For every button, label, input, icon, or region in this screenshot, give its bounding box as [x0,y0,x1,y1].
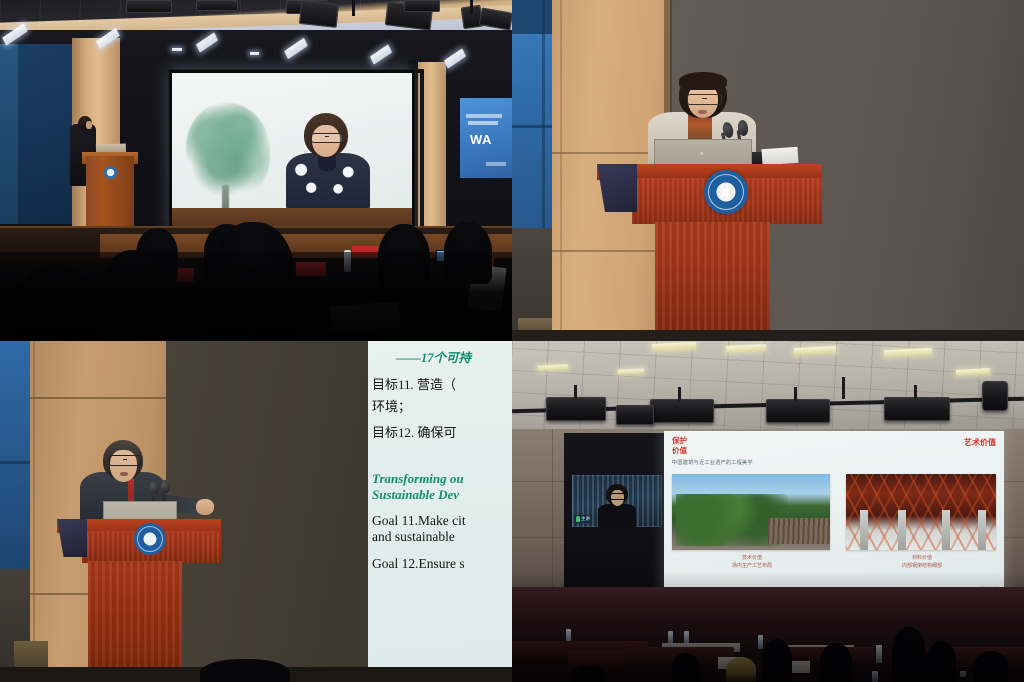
speaker-mouth [120,472,128,476]
slide-line-en-2: and sustainable [372,529,512,545]
wall-seam [560,0,562,341]
column-graphic [860,510,868,550]
column-graphic [978,510,986,550]
slide-photo-right [846,474,996,550]
wall-seam [28,397,170,399]
glasses-icon [610,493,627,500]
microphone-icon [576,516,580,522]
slide-title-right: 艺术价值 [964,437,996,448]
speaker-mouth [698,110,707,114]
stage-light-fixture [766,399,830,423]
participant-label: 主讲 [581,516,590,522]
slide-photo-right-caption: 材料价值 内部钢架结构细部 [864,555,980,570]
slide-title-left: 保护 价值 [672,436,687,456]
wall-seam [512,125,552,128]
caption-line-2: 场内生产工艺布局 [694,563,810,571]
slide-subtitle: 中国建筑与近工业遗产的工程美学 [672,459,753,466]
wall-seam [548,250,670,252]
stage-light-fixture [404,0,440,12]
remote-participant-body [598,504,636,527]
rig-drop-pipe [470,0,473,14]
university-seal [104,166,117,179]
seal-glyph: ▦ [722,188,730,197]
slide-photo-left-caption: 技术价值 场内生产工艺布局 [694,555,810,570]
slide-line-en-italic-2: Sustainable Dev [372,487,512,503]
panel-hall-projection-audience: 保护 价值 艺术价值 中国建筑与近工业遗产的工程美学 技术价值 场内生产工艺布局 [512,341,1024,682]
secondary-screen-title: WA [470,132,492,147]
wall-seam [552,429,553,589]
glasses-icon [109,455,141,466]
structure-graphic [768,518,830,544]
glasses-icon [311,133,343,143]
stage-light-fixture [650,399,714,423]
slide-line-en-1: Goal 11.Make cit [372,513,512,529]
host-face [86,121,92,129]
remote-speaker-collar [318,155,336,171]
glasses-icon [687,94,722,105]
fixture-yoke [914,385,917,399]
participant-name-tag: 主讲 [574,515,592,523]
stage-light-fixture [196,0,238,11]
wall-panel-blue-edge [0,44,18,224]
column-graphic [898,510,906,550]
wall-seam [33,341,35,682]
audience-silhouette [200,659,290,682]
secondary-screen: WA [460,98,512,178]
fixture-yoke [574,385,577,399]
wall-panel-blue [512,0,552,230]
wall-seam [542,0,545,230]
stage-light-fixture [982,381,1008,411]
panel-podium-speaker-with-slide: ——17个可持 目标11. 营造（ 环境； 目标12. 确保可 Transfor… [0,341,512,682]
paper-note [761,147,798,165]
video-conference-window[interactable]: 主讲 [572,475,662,527]
screen-text-line [468,121,498,125]
slide-content: ——17个可持 目标11. 营造（ 环境； 目标12. 确保可 Transfor… [372,347,512,572]
projector [616,405,654,425]
slide-title-left-line1: 保护 [672,436,687,446]
slide-line-cn-2: 环境； [372,396,512,415]
wall-seam [0,461,30,464]
slide-line-cn-1: 目标11. 营造（ [372,374,512,393]
slide-line-cn-3: 目标12. 确保可 [372,422,512,441]
panel-auditorium-remote-speaker: WA [0,0,512,341]
fixture-yoke [794,387,797,401]
wall-panel-blue-top [512,0,552,34]
fixture-yoke [678,387,681,401]
slide-photo-left [672,474,830,550]
column-graphic [942,510,950,550]
slide-heading: ——17个可持 [396,347,512,366]
stage-light-fixture [884,397,950,421]
photo-collage: WA [0,0,1024,682]
fixture-yoke [842,377,845,399]
slide-line-en-3: Goal 12.Ensure s [372,556,512,572]
truss-graphic [846,474,996,550]
projected-slide: ——17个可持 目标11. 营造（ 环境； 目标12. 确保可 Transfor… [368,341,512,671]
university-seal: ▦ [704,170,748,214]
screen-text-line [466,114,502,118]
foreground-shadow [512,571,1024,682]
ceiling-light [250,52,259,55]
caption-line-1: 技术价值 [694,555,810,563]
caption-line-2: 内部钢架结构细部 [864,563,980,571]
university-seal [134,523,166,555]
panel-podium-speaker-female: ▦ [512,0,1024,341]
seal-ring [137,526,163,552]
rig-drop-pipe [352,0,355,16]
podium-base [88,561,182,682]
stage-light-fixture [299,0,339,28]
ceiling-light [172,48,182,51]
stage-light-fixture [546,397,606,421]
slide-title-left-line2: 价值 [672,446,687,456]
foreground-shadow [0,252,512,341]
podium-base [655,222,770,341]
caption-line-1: 材料价值 [864,555,980,563]
led-wall-screen [172,73,412,232]
slide-line-en-italic-1: Transforming ou [372,471,512,487]
speaker-hair [679,72,727,90]
screen-text-line [486,162,506,166]
speaker-hand [196,499,214,515]
floor [512,330,1024,341]
stage-light-fixture [126,0,172,13]
wall-panel-blue [0,341,30,571]
laptop-logo [700,152,703,155]
